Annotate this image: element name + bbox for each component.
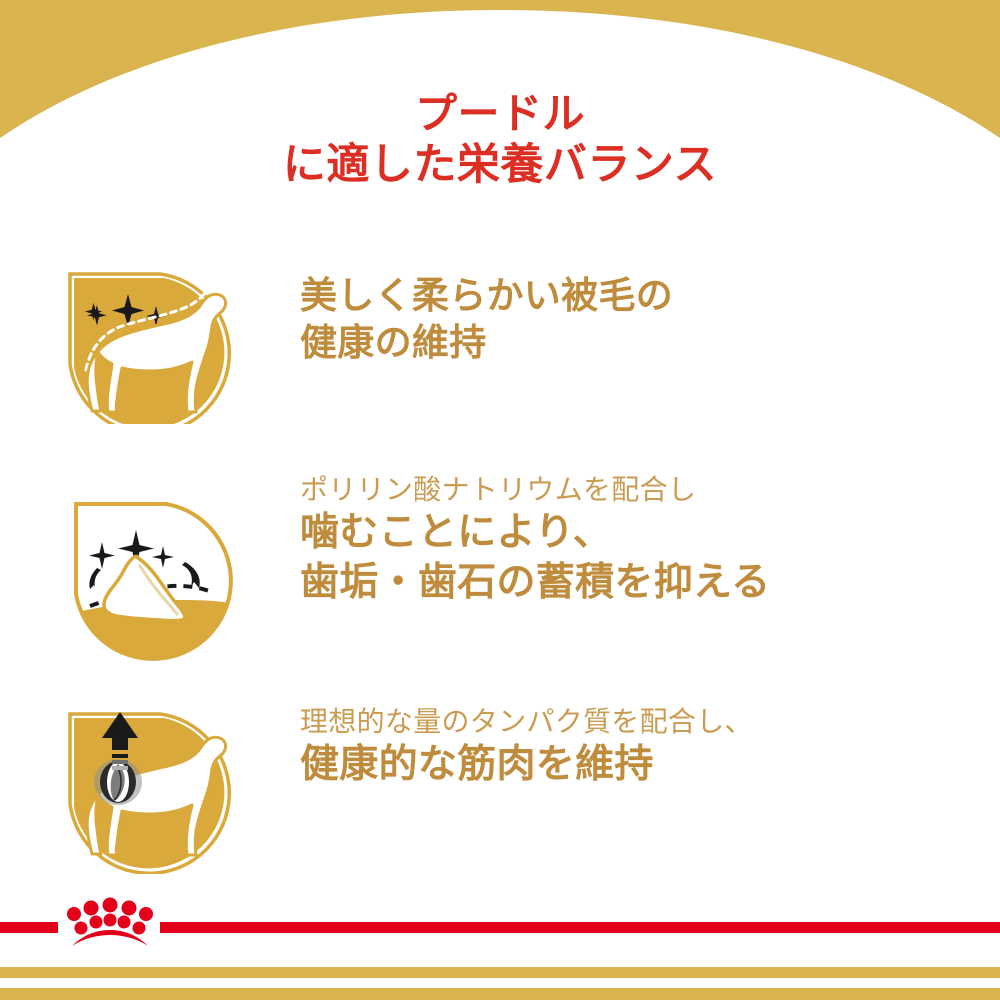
benefit-bold-line: 美しく柔らかい被毛の xyxy=(300,272,1000,319)
benefit-item-dental: ポリリン酸ナトリウムを配合し 噛むことにより、 歯垢・歯石の蓄積を抑える xyxy=(0,458,1000,690)
benefit-light-line: 理想的な量のタンパク質を配合し、 xyxy=(300,704,1000,740)
footer-gold-stripe-thin xyxy=(0,967,1000,978)
poodle-nutrition-infographic: プードル に適した栄養バランス xyxy=(0,0,1000,1000)
benefit-icon-cell xyxy=(0,458,300,668)
benefit-icon-cell xyxy=(0,258,300,424)
benefit-text-cell: ポリリン酸ナトリウムを配合し 噛むことにより、 歯垢・歯石の蓄積を抑える xyxy=(300,458,1000,608)
footer-rule-left-segment xyxy=(0,922,58,933)
royal-canin-crown-logo xyxy=(60,890,160,950)
benefit-text-cell: 美しく柔らかい被毛の 健康の維持 xyxy=(300,258,1000,367)
benefit-bold-line: 歯垢・歯石の蓄積を抑える xyxy=(300,558,1000,608)
benefit-light-line: ポリリン酸ナトリウムを配合し xyxy=(300,472,1000,508)
benefit-bold-line: 健康の維持 xyxy=(300,319,1000,366)
page-title: プードル に適した栄養バランス xyxy=(0,88,1000,192)
title-line-2: に適した栄養バランス xyxy=(0,139,1000,191)
title-line-1: プードル xyxy=(0,88,1000,139)
benefit-text-cell: 理想的な量のタンパク質を配合し、 健康的な筋肉を維持 xyxy=(300,690,1000,790)
benefits-list: 美しく柔らかい被毛の 健康の維持 xyxy=(0,258,1000,870)
benefit-item-muscle: 理想的な量のタンパク質を配合し、 健康的な筋肉を維持 xyxy=(0,690,1000,870)
footer-gold-stripe-thick xyxy=(0,988,1000,1000)
dog-coat-shield-icon xyxy=(60,264,240,424)
dog-muscle-protein-shield-icon xyxy=(60,704,240,874)
benefit-icon-cell xyxy=(0,690,300,874)
kibble-dental-shield-icon xyxy=(60,488,240,668)
benefit-bold-line: 噛むことにより、 xyxy=(300,508,1000,558)
benefit-item-coat: 美しく柔らかい被毛の 健康の維持 xyxy=(0,258,1000,458)
benefit-bold-line: 健康的な筋肉を維持 xyxy=(300,740,1000,790)
footer-rule-right-segment xyxy=(160,922,1000,933)
